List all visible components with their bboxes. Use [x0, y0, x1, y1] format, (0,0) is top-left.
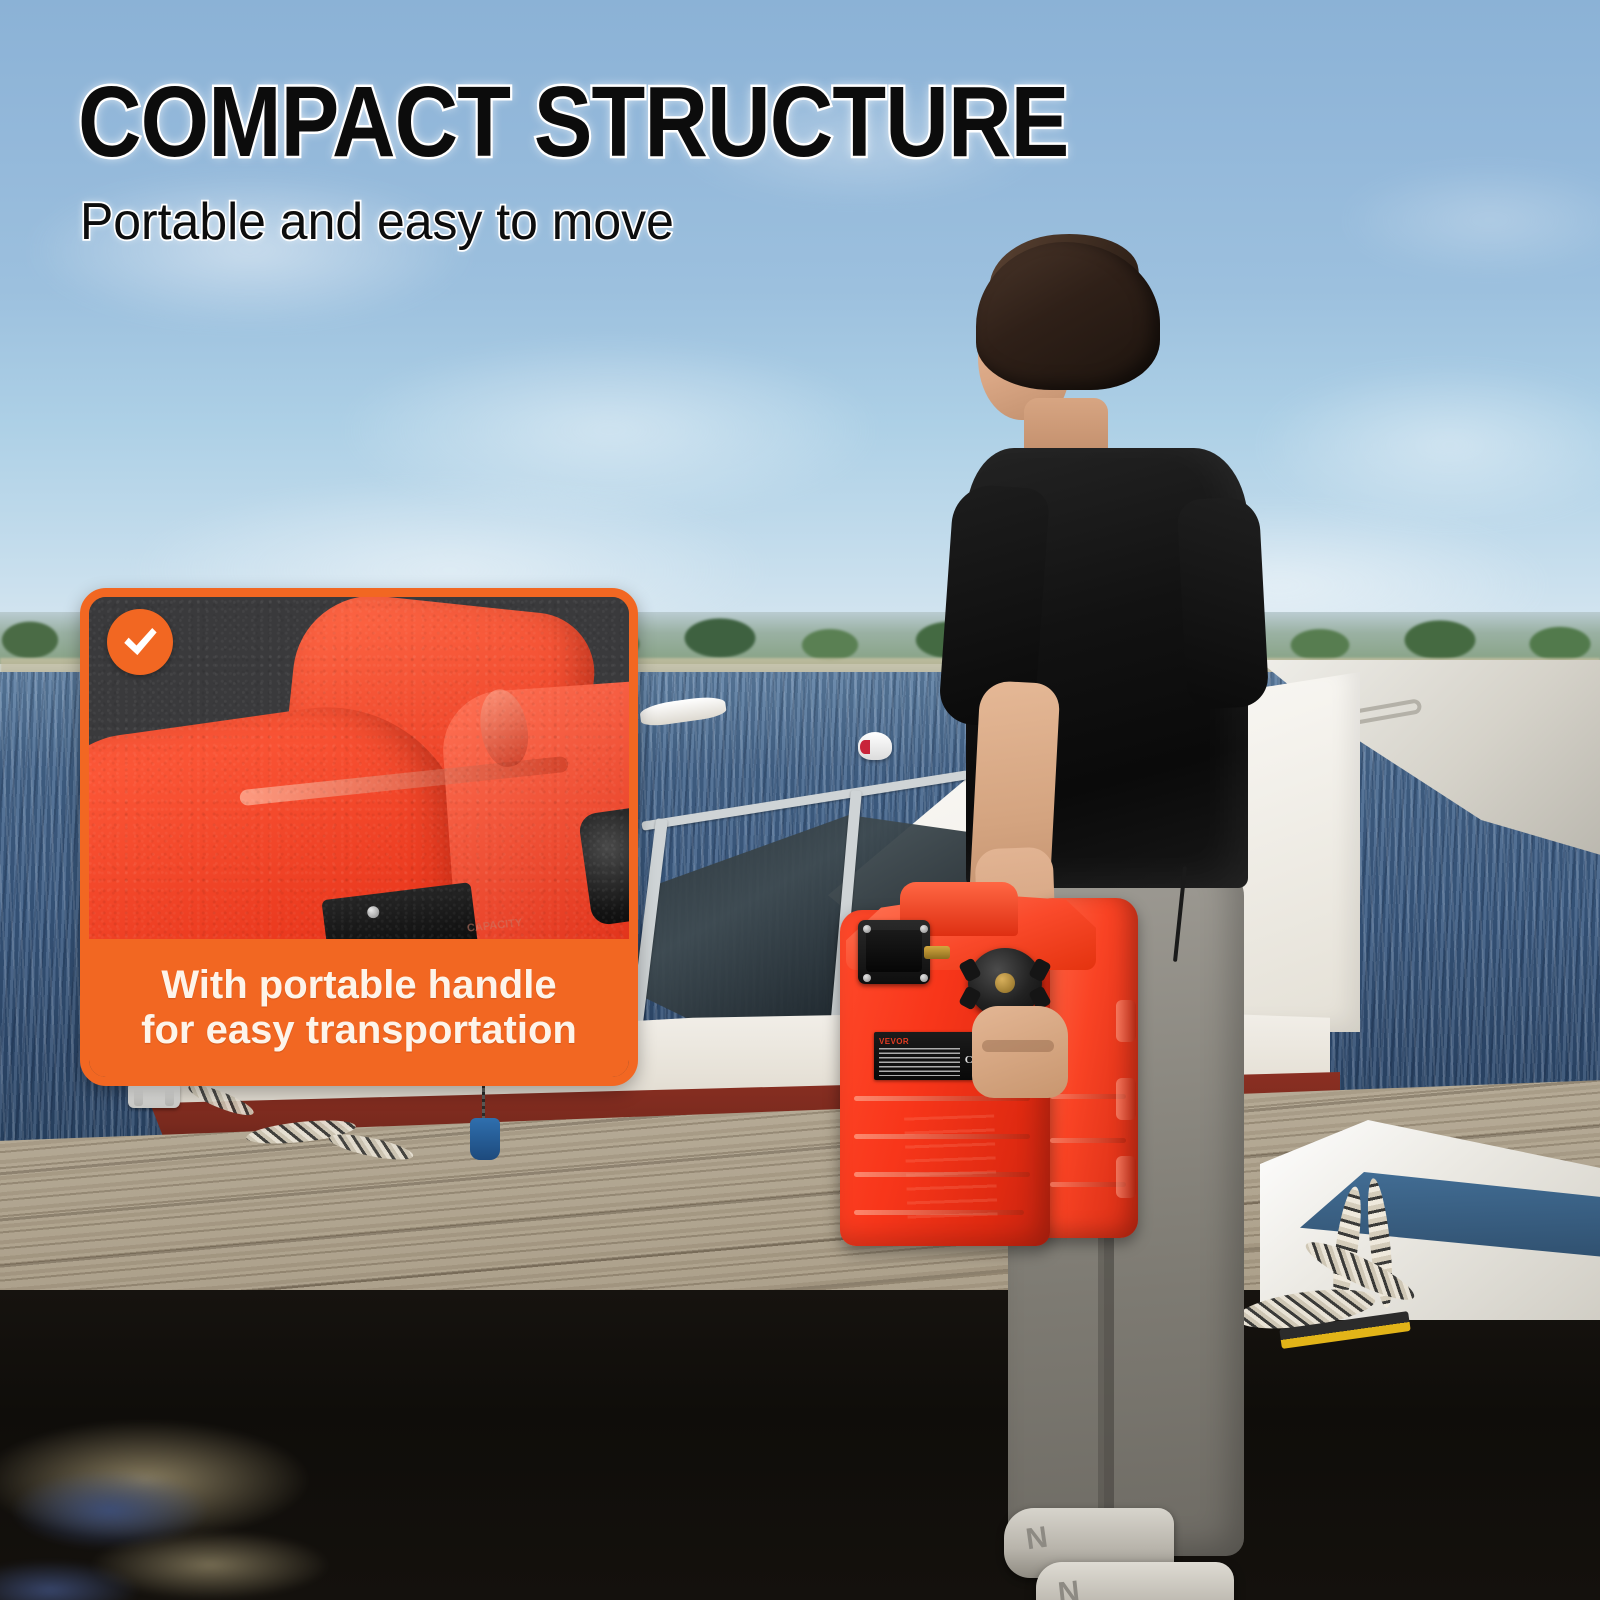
shoe-logo: N — [1024, 1521, 1050, 1558]
label-text-lines — [879, 1048, 960, 1076]
tank-rib — [1050, 1094, 1126, 1099]
ce-mark: CE — [965, 1054, 980, 1066]
tank-notch — [1116, 1156, 1136, 1198]
fitting-screw — [863, 974, 871, 982]
sleeve — [1177, 496, 1270, 710]
check-icon — [107, 609, 173, 675]
fuel-cap — [968, 948, 1042, 1018]
fitting-screw — [863, 925, 871, 933]
tank-embossing — [904, 1114, 998, 1227]
tank-rib — [854, 1096, 1030, 1101]
product-marketing-image: N N — [0, 0, 1600, 1600]
tank-notch — [1116, 1078, 1136, 1120]
page-subtitle: Portable and easy to move — [80, 196, 674, 248]
shoe-logo: N — [1056, 1575, 1081, 1600]
cloud — [1280, 140, 1600, 300]
callout-caption-line-1: With portable handle — [161, 963, 556, 1008]
boat-navigation-light — [858, 732, 892, 760]
tank-rib — [1050, 1138, 1126, 1143]
boat-fender — [470, 1118, 500, 1160]
fitting-screw — [920, 925, 928, 933]
tank-notch — [1116, 1000, 1136, 1042]
fuel-outlet-nipple — [924, 946, 950, 959]
feature-callout-card: CAPACITY With portable handle for easy t… — [80, 588, 638, 1086]
callout-caption-bar: With portable handle for easy transporta… — [89, 939, 629, 1077]
portable-fuel-tank: VEVOR CE — [840, 882, 1140, 1250]
callout-caption-line-2: for easy transportation — [141, 1008, 577, 1053]
tank-rib — [1050, 1182, 1126, 1187]
brand-logo: VEVOR — [879, 1037, 909, 1046]
page-title: COMPACT STRUCTURE — [78, 72, 1068, 172]
person-carrying-tank: N N — [930, 230, 1310, 1470]
product-spec-label: VEVOR CE — [874, 1032, 986, 1080]
fitting-screw — [920, 974, 928, 982]
